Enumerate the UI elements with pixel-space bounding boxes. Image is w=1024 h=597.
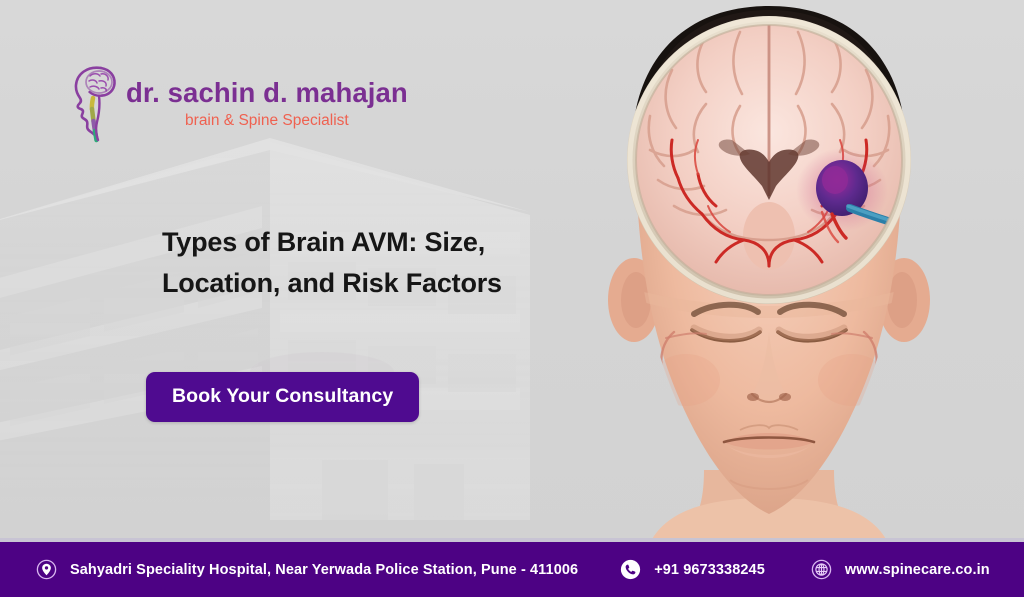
hospital-building-watermark [0,120,590,550]
website-text: www.spinecare.co.in [845,562,990,578]
page-title: Types of Brain AVM: Size, Location, and … [162,222,562,304]
phone-text: +91 9673338245 [654,562,765,578]
contact-footer: Sahyadri Speciality Hospital, Near Yerwa… [0,542,1024,597]
footer-website[interactable]: www.spinecare.co.in [811,559,990,580]
brand-logo[interactable]: dr. sachin d. mahajan brain & Spine Spec… [68,62,408,146]
location-pin-icon [36,559,57,580]
brand-name: dr. sachin d. mahajan [126,77,408,109]
globe-icon [811,559,832,580]
brand-tagline: brain & Spine Specialist [126,112,408,131]
footer-address: Sahyadri Speciality Hospital, Near Yerwa… [36,559,578,580]
book-consultancy-button[interactable]: Book Your Consultancy [146,372,419,422]
head-brain-spine-icon [68,62,120,146]
footer-phone[interactable]: +91 9673338245 [620,559,765,580]
promo-banner: dr. sachin d. mahajan brain & Spine Spec… [0,0,1024,597]
address-text: Sahyadri Speciality Hospital, Near Yerwa… [70,562,578,578]
phone-icon [620,559,641,580]
brain-avm-illustration [554,0,984,545]
